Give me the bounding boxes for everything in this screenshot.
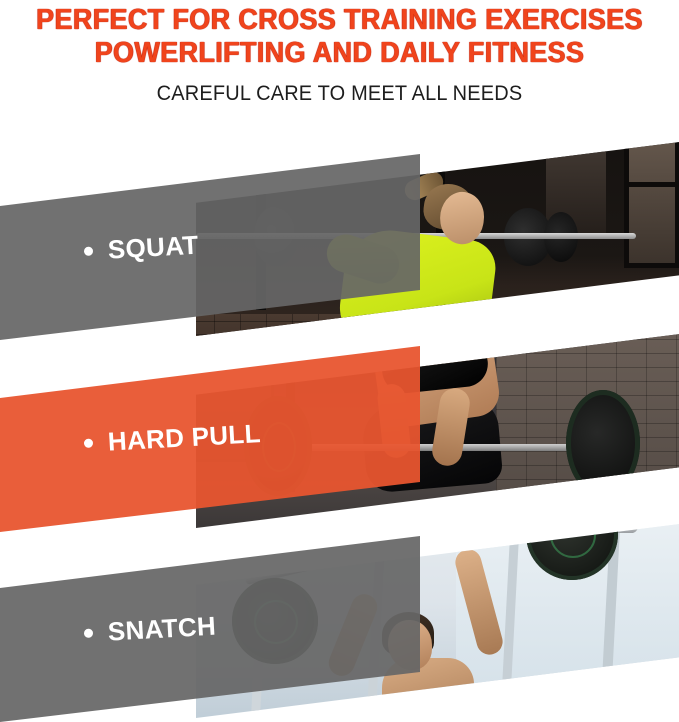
- barbell-plate-right: [566, 390, 640, 496]
- barbell-collar: [602, 522, 638, 533]
- bullet-dot-icon: [84, 629, 93, 638]
- bullet-dot-icon: [84, 439, 93, 448]
- athlete-head: [446, 332, 492, 336]
- subtitle: CAREFUL CARE TO MEET ALL NEEDS: [17, 82, 662, 106]
- feature-band-squat: SQUAT: [0, 140, 679, 340]
- band-label-squat: SQUAT: [107, 230, 199, 266]
- window-icon: [624, 140, 679, 268]
- headline-line-1: PERFECT FOR CROSS TRAINING EXERCISES: [24, 6, 655, 35]
- band-label-snatch: SNATCH: [107, 611, 217, 648]
- feature-band-hard-pull: HARD PULL: [0, 332, 679, 532]
- bullet-dot-icon: [84, 247, 93, 256]
- label-row-squat: SQUAT: [83, 230, 199, 267]
- feature-band-snatch: SNATCH: [0, 522, 679, 722]
- header: PERFECT FOR CROSS TRAINING EXERCISES POW…: [0, 0, 679, 120]
- headline-line-2: POWERLIFTING AND DAILY FITNESS: [24, 39, 655, 68]
